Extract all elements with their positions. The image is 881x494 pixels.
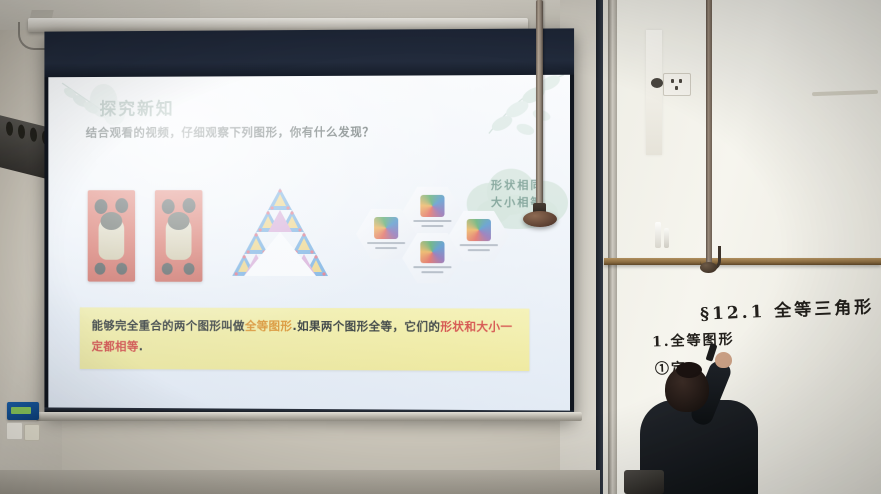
- definition-highlight-1: 全等图形: [245, 319, 292, 333]
- wall-strip: [646, 30, 662, 155]
- sierpinski-triangle-figure: [232, 186, 328, 286]
- screen-top-band: [44, 28, 574, 77]
- marker-1[interactable]: [655, 222, 661, 248]
- slide-content: 探究新知 结合观看的视频，仔细观察下列图形，你有什么发现？ 形状相同 大小相等: [48, 75, 570, 411]
- whiteboard-frame-edge: [608, 0, 617, 494]
- slide-subtitle: 结合观看的视频，仔细观察下列图形，你有什么发现？: [86, 124, 375, 141]
- panda-photo-right: [155, 190, 203, 282]
- wall-socket-2[interactable]: [24, 424, 40, 441]
- screen-pull-rod[interactable]: [536, 0, 543, 210]
- definition-part-2: .如果两个图形全等，它们的: [292, 319, 440, 334]
- whiteboard-rail: [604, 258, 881, 265]
- teacher-hand: [715, 352, 732, 368]
- whiteboard-dark-edge: [596, 0, 603, 494]
- definition-part-3: .: [139, 339, 144, 353]
- hexagon-badges-figure: [352, 186, 513, 291]
- wall-fixture: [651, 78, 663, 88]
- panda-photo-left: [88, 190, 135, 281]
- leaf-decoration-icon-right: [445, 75, 566, 164]
- hook-weight: [700, 262, 717, 273]
- teacher-hair-bun: [676, 362, 702, 378]
- figure-row: [48, 184, 570, 295]
- classroom-photo: 探究新知 结合观看的视频，仔细观察下列图形，你有什么发现？ 形状相同 大小相等: [0, 0, 881, 494]
- chair-back: [624, 470, 664, 494]
- pull-rod-weight[interactable]: [523, 211, 557, 227]
- wall-socket-1[interactable]: [6, 422, 23, 440]
- projection-screen[interactable]: 探究新知 结合观看的视频，仔细观察下列图形，你有什么发现？ 形状相同 大小相等: [44, 28, 574, 416]
- wall-outlet[interactable]: [663, 73, 691, 96]
- blue-wall-sign: [7, 402, 39, 420]
- vertical-pipe: [706, 0, 712, 268]
- floor-strip: [0, 470, 600, 494]
- screen-bottom-rail: [36, 412, 582, 421]
- whiteboard-line-1: 1.全等图形: [652, 329, 735, 352]
- definition-part-1: 能够完全重合的两个图形叫做: [92, 318, 245, 332]
- slide-title: 探究新知: [100, 95, 175, 120]
- definition-box: 能够完全重合的两个图形叫做全等图形.如果两个图形全等，它们的形状和大小一定都相等…: [80, 307, 530, 371]
- marker-2[interactable]: [664, 228, 669, 248]
